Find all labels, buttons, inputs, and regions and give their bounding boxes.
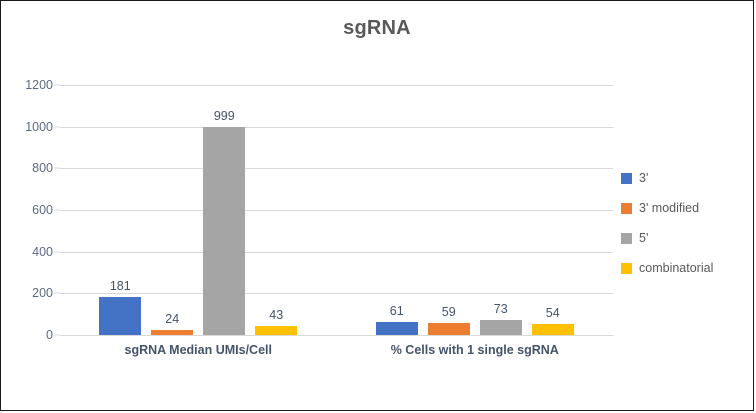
- legend-item-label: combinatorial: [639, 261, 713, 275]
- bar-combinatorial-1[interactable]: [255, 326, 297, 335]
- legend-item-3-modified[interactable]: 3' modified: [621, 193, 749, 223]
- category-label-1: sgRNA Median UMIs/Cell: [60, 343, 337, 357]
- legend-item-label: 5': [639, 231, 648, 245]
- bar-5--1[interactable]: [203, 127, 245, 335]
- legend-item-combinatorial[interactable]: combinatorial: [621, 253, 749, 283]
- legend-item-3-[interactable]: 3': [621, 163, 749, 193]
- y-axis-tick-label: 600: [7, 203, 53, 217]
- bar-value-label: 43: [255, 308, 297, 322]
- gridline: [60, 85, 613, 86]
- bar-value-label: 181: [99, 279, 141, 293]
- legend-item-5-[interactable]: 5': [621, 223, 749, 253]
- x-axis-line: [60, 335, 613, 336]
- bar-combinatorial-2[interactable]: [532, 324, 574, 335]
- legend-item-label: 3': [639, 171, 648, 185]
- y-axis-tick-label: 800: [7, 161, 53, 175]
- legend-swatch-icon: [621, 203, 632, 214]
- bar-3-modified-2[interactable]: [428, 323, 470, 335]
- chart-legend: 3'3' modified5'combinatorial: [621, 163, 749, 283]
- legend-swatch-icon: [621, 263, 632, 274]
- y-axis-tick-label: 1000: [7, 120, 53, 134]
- gridline: [60, 168, 613, 169]
- y-axis-tick-label: 1200: [7, 78, 53, 92]
- bar-3-modified-1[interactable]: [151, 330, 193, 335]
- bar-value-label: 61: [376, 304, 418, 318]
- gridline: [60, 210, 613, 211]
- gridline: [60, 293, 613, 294]
- bar-value-label: 73: [480, 302, 522, 316]
- category-label-2: % Cells with 1 single sgRNA: [337, 343, 614, 357]
- chart-frame: sgRNA 120010008006004002000 181249994361…: [0, 0, 754, 411]
- bar-3--2[interactable]: [376, 322, 418, 335]
- bar-value-label: 24: [151, 312, 193, 326]
- y-axis: 120010008006004002000: [1, 85, 53, 335]
- bar-value-label: 999: [203, 109, 245, 123]
- legend-swatch-icon: [621, 233, 632, 244]
- y-axis-tick-label: 0: [7, 328, 53, 342]
- chart-title: sgRNA: [1, 17, 753, 40]
- y-axis-tick-label: 400: [7, 245, 53, 259]
- bar-3--1[interactable]: [99, 297, 141, 335]
- legend-swatch-icon: [621, 173, 632, 184]
- plot-area: 181249994361597354: [60, 85, 613, 335]
- gridline: [60, 252, 613, 253]
- bar-5--2[interactable]: [480, 320, 522, 335]
- y-axis-tick-label: 200: [7, 286, 53, 300]
- gridline: [60, 127, 613, 128]
- bar-value-label: 54: [532, 306, 574, 320]
- bar-value-label: 59: [428, 305, 470, 319]
- legend-item-label: 3' modified: [639, 201, 699, 215]
